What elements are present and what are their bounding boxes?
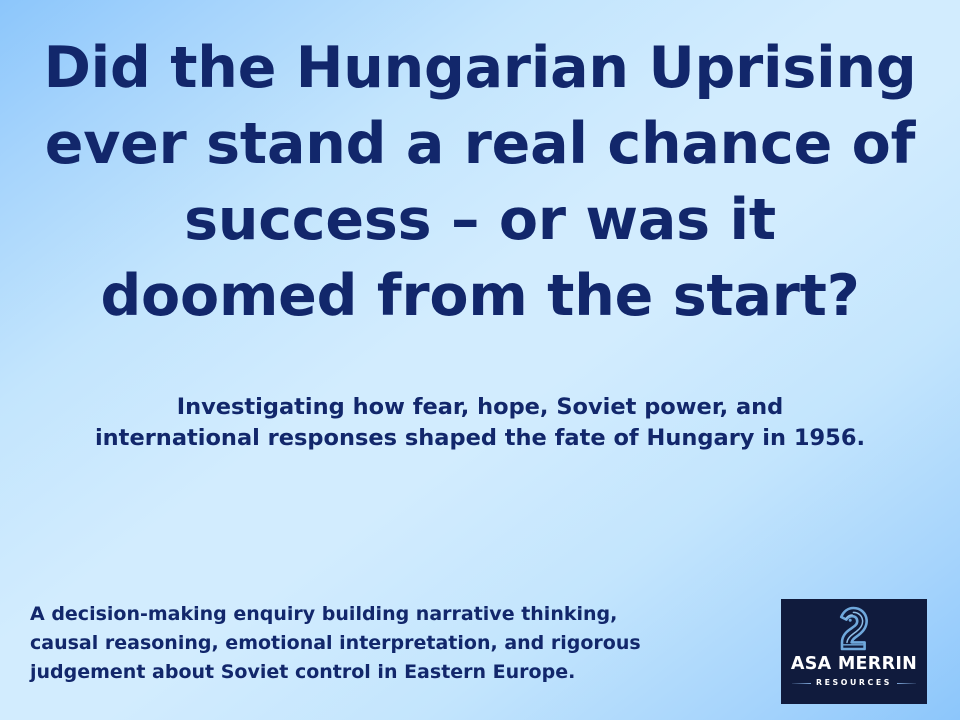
logo-tagline-row: RESOURCES [792,678,916,688]
title-line-4: doomed from the start? [18,258,942,334]
page-title: Did the Hungarian Uprising ever stand a … [18,30,942,334]
logo-name: ASA MERRIN [791,654,917,674]
logo-rule-right [897,683,916,684]
description-line-2: causal reasoning, emotional interpretati… [30,629,730,658]
chess-knight-icon [833,606,875,651]
logo-rule-left [792,683,811,684]
title-line-2: ever stand a real chance of [18,106,942,182]
description-text: A decision-making enquiry building narra… [30,600,730,687]
subtitle: Investigating how fear, hope, Soviet pow… [22,392,938,454]
title-line-1: Did the Hungarian Uprising [18,30,942,106]
subtitle-line-1: Investigating how fear, hope, Soviet pow… [22,392,938,423]
description-line-1: A decision-making enquiry building narra… [30,600,730,629]
logo-tagline: RESOURCES [811,678,897,688]
brand-logo: ASA MERRIN RESOURCES [781,599,927,704]
title-slide: Did the Hungarian Uprising ever stand a … [0,0,960,720]
subtitle-line-2: international responses shaped the fate … [22,423,938,454]
description-line-3: judgement about Soviet control in Easter… [30,658,730,687]
title-line-3: success – or was it [18,182,942,258]
